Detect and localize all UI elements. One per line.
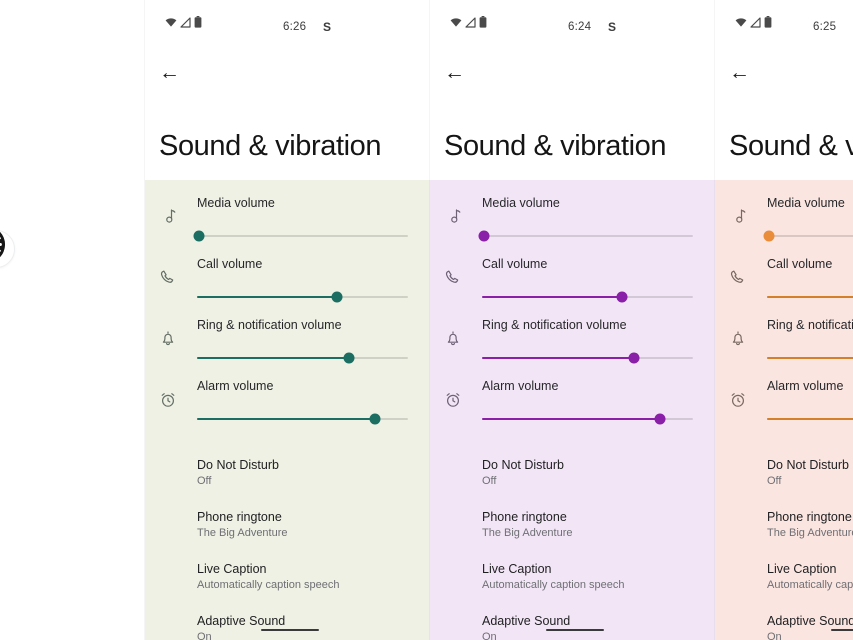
status-icons	[165, 16, 202, 28]
slider-fill	[767, 296, 853, 298]
list-item-subtitle: The Big Adventure	[197, 527, 288, 539]
slider-label: Call volume	[197, 257, 262, 271]
back-arrow-icon: ←	[729, 62, 750, 83]
list-item-adaptive-sound[interactable]: Adaptive Sound On	[715, 610, 853, 640]
slider-fill	[197, 357, 349, 359]
list-item-live-caption[interactable]: Live Caption Automatically caption speec…	[145, 558, 430, 610]
slider-thumb[interactable]	[370, 414, 381, 425]
list-item-subtitle: The Big Adventure	[767, 527, 853, 539]
list-item-subtitle: Automatically caption speech	[482, 579, 624, 591]
gesture-nav-pill[interactable]	[261, 629, 319, 631]
slider-fill	[482, 296, 622, 298]
slider-track[interactable]	[197, 235, 408, 237]
slider-ring-notification-volume[interactable]: Ring & notification	[715, 310, 853, 371]
slider-thumb[interactable]	[655, 414, 666, 425]
signal-icon	[750, 17, 761, 28]
sound-settings-card: Media volume Call volume	[430, 180, 715, 640]
slider-track[interactable]	[767, 235, 853, 237]
bell-icon	[159, 330, 179, 350]
sound-settings-card: Media volume Call volume	[715, 180, 853, 640]
list-item-subtitle: On	[482, 631, 497, 640]
bell-icon	[729, 330, 749, 350]
status-icons	[450, 16, 487, 28]
wifi-icon	[735, 17, 747, 28]
music-note-icon	[729, 208, 749, 228]
slider-media-volume[interactable]: Media volume	[715, 188, 853, 249]
battery-icon	[764, 16, 772, 28]
list-item-subtitle: The Big Adventure	[482, 527, 573, 539]
status-time: 6:26	[283, 21, 306, 33]
slider-fill	[767, 357, 853, 359]
wifi-icon	[165, 17, 177, 28]
back-arrow-icon: ←	[159, 62, 180, 83]
list-item-title: Adaptive Sound	[482, 614, 570, 628]
phone-icon	[729, 269, 749, 289]
slider-thumb[interactable]	[194, 231, 205, 242]
list-item-adaptive-sound[interactable]: Adaptive Sound On	[145, 610, 430, 640]
list-item-do-not-disturb[interactable]: Do Not Disturb Off	[715, 454, 853, 506]
bell-icon	[444, 330, 464, 350]
phone-panel-settings-clipped: el Tips s	[0, 0, 145, 640]
slider-thumb[interactable]	[764, 231, 775, 242]
list-item-title: Live Caption	[197, 562, 267, 576]
slider-call-volume[interactable]: Call volume	[430, 249, 715, 310]
page-title: Sound & vibration	[444, 130, 666, 163]
phone-panel-sound-peach: 6:25 S ← Sound & vib Media volume	[715, 0, 853, 640]
list-item-live-caption[interactable]: Live Caption Automatically captio	[715, 558, 853, 610]
alarm-clock-icon	[729, 391, 749, 411]
music-note-icon	[159, 208, 179, 228]
screenshot-stage: el Tips s	[0, 0, 853, 640]
slider-track[interactable]	[482, 235, 693, 237]
list-item-title: Do Not Disturb	[197, 458, 279, 472]
slider-thumb[interactable]	[344, 353, 355, 364]
list-item-title: Do Not Disturb	[482, 458, 564, 472]
slider-thumb[interactable]	[629, 353, 640, 364]
back-button[interactable]: ←	[430, 46, 715, 98]
slider-thumb[interactable]	[332, 292, 343, 303]
settings-clipped-inner: el Tips s	[0, 0, 145, 640]
slider-label: Ring & notification	[767, 318, 853, 332]
phone-panel-sound-purple: 6:24 S ← Sound & vibration Media volume	[430, 0, 715, 640]
battery-icon	[194, 16, 202, 28]
slider-thumb[interactable]	[617, 292, 628, 303]
slider-thumb[interactable]	[479, 231, 490, 242]
list-item-title: Live Caption	[767, 562, 837, 576]
list-item-do-not-disturb[interactable]: Do Not Disturb Off	[430, 454, 715, 506]
battery-icon	[479, 16, 487, 28]
slider-call-volume[interactable]: Call volume	[715, 249, 853, 310]
phone-icon	[444, 269, 464, 289]
slider-label: Call volume	[482, 257, 547, 271]
back-button[interactable]: ←	[145, 46, 430, 98]
list-item-do-not-disturb[interactable]: Do Not Disturb Off	[145, 454, 430, 506]
gesture-nav-pill[interactable]	[831, 629, 853, 631]
slider-label: Media volume	[767, 196, 845, 210]
slider-label: Alarm volume	[197, 379, 273, 393]
list-item-title: Adaptive Sound	[767, 614, 853, 628]
back-arrow-icon: ←	[444, 62, 465, 83]
alarm-clock-icon	[444, 391, 464, 411]
list-item-subtitle: Automatically captio	[767, 579, 853, 591]
list-item-subtitle: On	[197, 631, 212, 640]
slider-alarm-volume[interactable]: Alarm volume	[430, 371, 715, 432]
list-item-subtitle: Off	[482, 475, 496, 487]
list-item-title: Live Caption	[482, 562, 552, 576]
slider-fill	[767, 418, 853, 420]
list-item-subtitle: Off	[767, 475, 781, 487]
status-bar: 6:24 S	[430, 0, 715, 46]
slider-label: Media volume	[482, 196, 560, 210]
list-item-title: Phone ringtone	[197, 510, 282, 524]
slider-fill	[482, 357, 634, 359]
slider-media-volume[interactable]: Media volume	[430, 188, 715, 249]
slider-label: Alarm volume	[482, 379, 558, 393]
alarm-clock-icon	[159, 391, 179, 411]
status-time: 6:24	[568, 21, 591, 33]
sound-settings-card: Media volume Call volume	[145, 180, 430, 640]
status-bar: 6:25 S	[715, 0, 853, 46]
page-title: Sound & vibration	[159, 130, 381, 163]
signal-icon	[465, 17, 476, 28]
list-item-phone-ringtone[interactable]: Phone ringtone The Big Adventure	[715, 506, 853, 558]
slider-ring-notification-volume[interactable]: Ring & notification volume	[145, 310, 430, 371]
slider-label: Ring & notification volume	[482, 318, 627, 332]
list-item-phone-ringtone[interactable]: Phone ringtone The Big Adventure	[145, 506, 430, 558]
list-item-adaptive-sound[interactable]: Adaptive Sound On	[430, 610, 715, 640]
slider-label: Media volume	[197, 196, 275, 210]
slider-alarm-volume[interactable]: Alarm volume	[715, 371, 853, 432]
status-s-icon: S	[323, 20, 331, 34]
list-item-live-caption[interactable]: Live Caption Automatically caption speec…	[430, 558, 715, 610]
slider-ring-notification-volume[interactable]: Ring & notification volume	[430, 310, 715, 371]
list-item-title: Do Not Disturb	[767, 458, 849, 472]
list-item-subtitle: Automatically caption speech	[197, 579, 339, 591]
status-time: 6:25	[813, 21, 836, 33]
slider-fill	[197, 418, 375, 420]
list-item-subtitle: Off	[197, 475, 211, 487]
slider-label: Ring & notification volume	[197, 318, 342, 332]
list-item-title: Phone ringtone	[482, 510, 567, 524]
gesture-nav-pill[interactable]	[546, 629, 604, 631]
wifi-icon	[450, 17, 462, 28]
music-note-icon	[444, 208, 464, 228]
slider-fill	[482, 418, 660, 420]
slider-fill	[197, 296, 337, 298]
signal-icon	[180, 17, 191, 28]
status-bar: 6:26 S	[145, 0, 430, 46]
page-title: Sound & vib	[729, 130, 853, 163]
list-item-subtitle: On	[767, 631, 782, 640]
phone-icon	[159, 269, 179, 289]
slider-alarm-volume[interactable]: Alarm volume	[145, 371, 430, 432]
slider-call-volume[interactable]: Call volume	[145, 249, 430, 310]
phone-panel-sound-green: 6:26 S ← Sound & vibration Media volume	[145, 0, 430, 640]
list-item-title: Adaptive Sound	[197, 614, 285, 628]
back-button[interactable]: ←	[715, 46, 853, 98]
slider-media-volume[interactable]: Media volume	[145, 188, 430, 249]
slider-label: Alarm volume	[767, 379, 843, 393]
slider-label: Call volume	[767, 257, 832, 271]
status-icons	[735, 16, 772, 28]
list-item-title: Phone ringtone	[767, 510, 852, 524]
status-s-icon: S	[608, 20, 616, 34]
list-item-phone-ringtone[interactable]: Phone ringtone The Big Adventure	[430, 506, 715, 558]
